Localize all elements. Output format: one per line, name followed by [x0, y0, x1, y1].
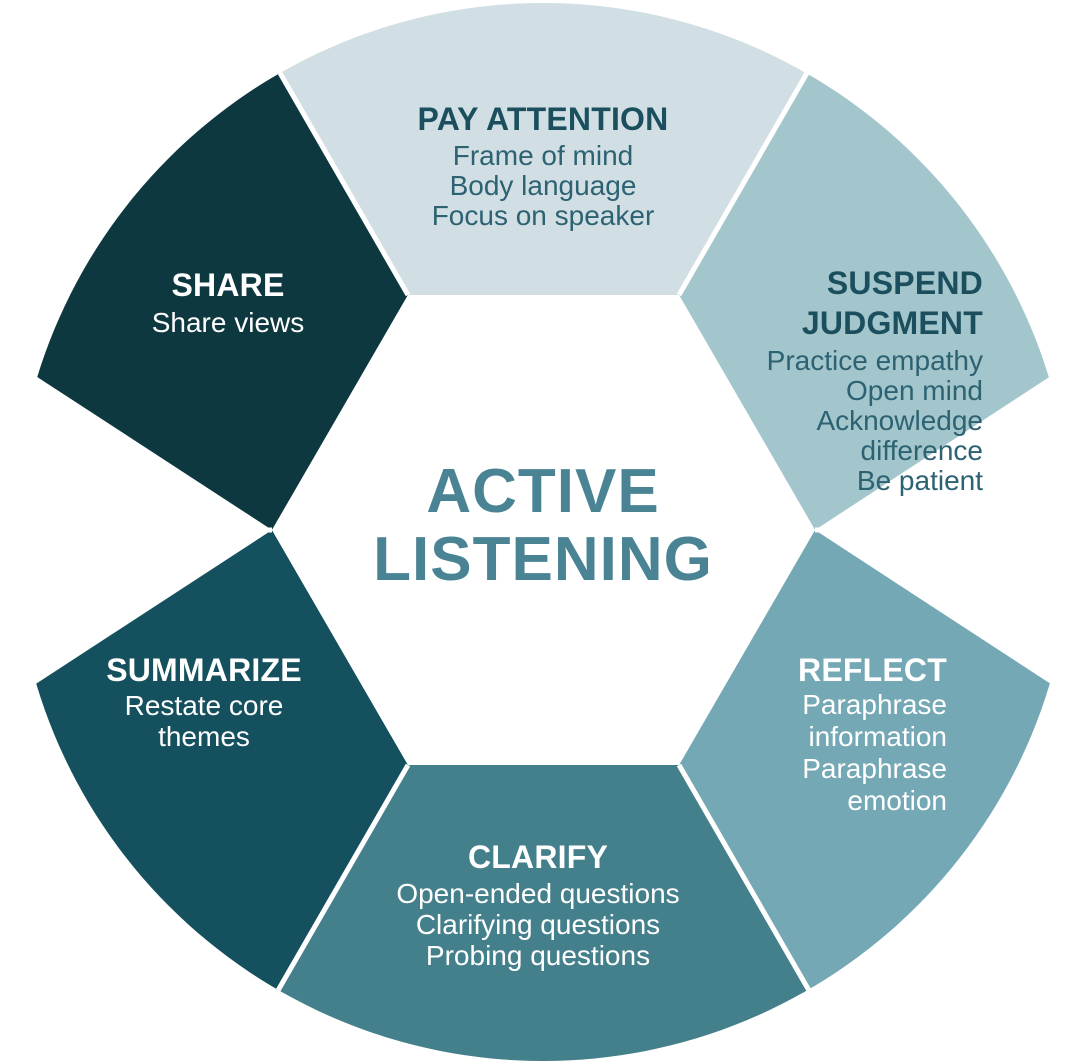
suspend-judgment-line-4: difference: [861, 435, 983, 466]
suspend-judgment-title-line-1: SUSPEND: [827, 265, 983, 301]
suspend-judgment-line-3: Acknowledge: [816, 405, 983, 436]
clarify-line-1: Open-ended questions: [396, 878, 679, 909]
active-listening-wheel: ACTIVE LISTENING PAY ATTENTION Frame of …: [0, 0, 1087, 1061]
active-listening-diagram: ACTIVE LISTENING PAY ATTENTION Frame of …: [0, 0, 1087, 1061]
reflect-line-1: Paraphrase: [802, 689, 947, 720]
label-pay-attention: PAY ATTENTION Frame of mind Body languag…: [418, 101, 669, 231]
clarify-line-3: Probing questions: [426, 940, 650, 971]
summarize-line-2: themes: [158, 721, 250, 752]
pay-attention-line-2: Body language: [450, 170, 637, 201]
pay-attention-line-1: Frame of mind: [453, 140, 634, 171]
pay-attention-line-3: Focus on speaker: [432, 200, 655, 231]
suspend-judgment-line-5: Be patient: [857, 465, 983, 496]
center-title-line-2: LISTENING: [373, 525, 713, 594]
share-line-1: Share views: [152, 307, 305, 338]
reflect-line-2: information: [808, 721, 947, 752]
suspend-judgment-title-line-2: JUDGMENT: [802, 305, 983, 341]
clarify-title: CLARIFY: [468, 839, 608, 875]
pay-attention-title: PAY ATTENTION: [418, 101, 669, 137]
suspend-judgment-line-2: Open mind: [846, 375, 983, 406]
label-share: SHARE Share views: [152, 267, 305, 338]
center-title-line-1: ACTIVE: [426, 457, 659, 526]
suspend-judgment-line-1: Practice empathy: [767, 345, 983, 376]
reflect-line-3: Paraphrase: [802, 753, 947, 784]
reflect-line-4: emotion: [847, 785, 947, 816]
share-title: SHARE: [171, 267, 284, 303]
clarify-line-2: Clarifying questions: [416, 909, 660, 940]
reflect-title: REFLECT: [798, 652, 947, 688]
summarize-line-1: Restate core: [125, 690, 284, 721]
summarize-title: SUMMARIZE: [106, 652, 302, 688]
